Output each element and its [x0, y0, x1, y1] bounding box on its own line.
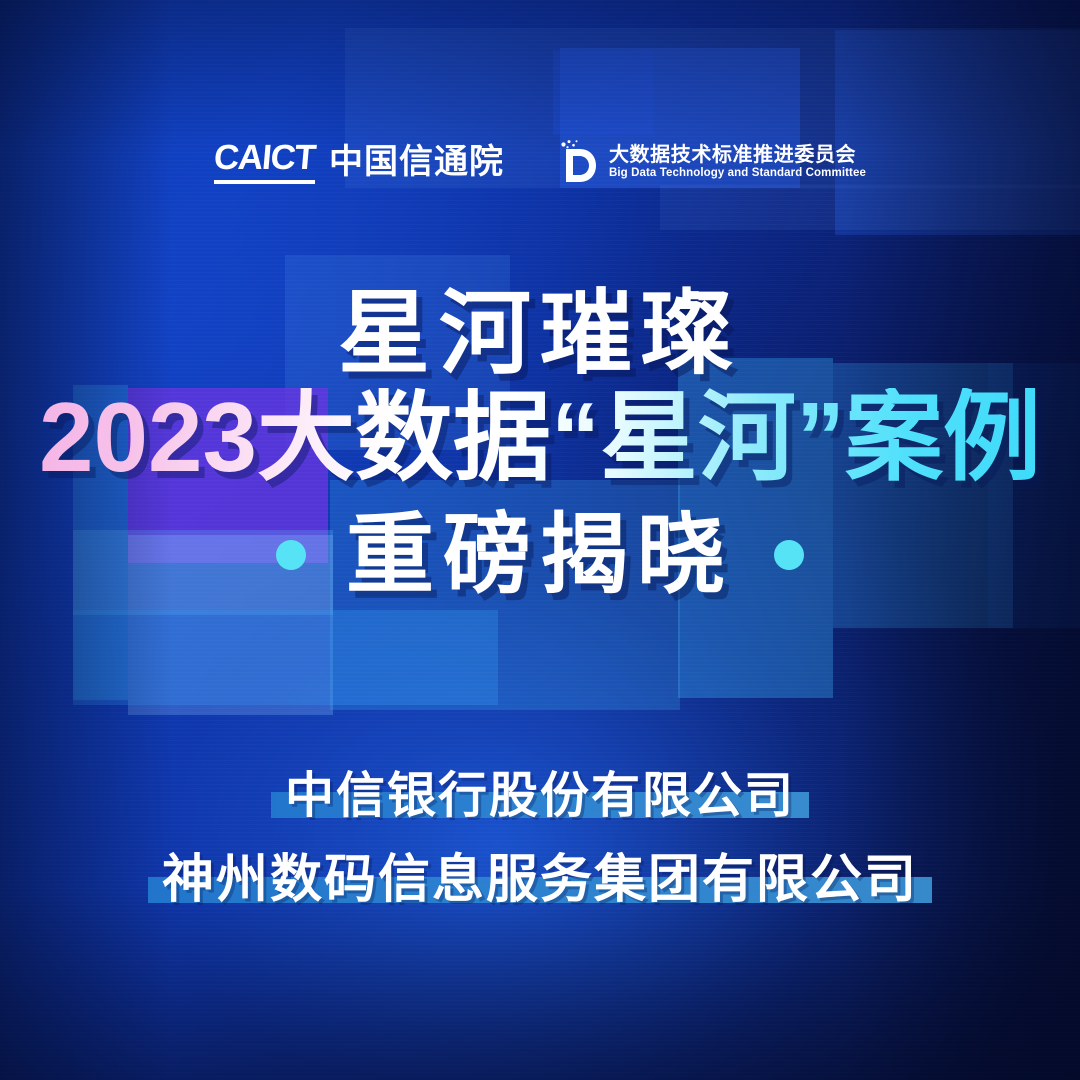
winner-item: 神州数码信息服务集团有限公司: [148, 852, 932, 909]
winner-name: 神州数码信息服务集团有限公司: [162, 851, 918, 909]
headline-group: 星河璀璨 2023大数据“星河”案例 重磅揭晓: [0, 288, 1080, 600]
headline-line-3-row: 重磅揭晓: [0, 510, 1080, 600]
caict-wordmark-text: CAICT: [212, 140, 316, 175]
bdtsc-logo: 大数据技术标准推进委员会 Big Data Technology and Sta…: [556, 138, 866, 186]
winner-name: 中信银行股份有限公司: [285, 769, 795, 823]
mid-right-band: [660, 185, 1080, 230]
caict-logo: CAICT 中国信通院: [214, 140, 504, 184]
bdtsc-text: 大数据技术标准推进委员会 Big Data Technology and Sta…: [609, 145, 866, 180]
logo-row: CAICT 中国信通院 大数据技术标准推进委员会 Big Data Techno…: [0, 138, 1080, 186]
bdtsc-english-name: Big Data Technology and Standard Committ…: [609, 168, 866, 180]
bullet-dot-left-icon: [276, 540, 306, 570]
caict-wordmark-icon: CAICT: [214, 140, 315, 184]
headline-line-3: 重磅揭晓: [346, 510, 734, 600]
headline-line-2: 2023大数据“星河”案例: [0, 388, 1080, 488]
caict-chinese-name: 中国信通院: [329, 145, 504, 179]
bdtsc-chinese-name: 大数据技术标准推进委员会: [609, 145, 866, 165]
headline-line-1: 星河璀璨: [0, 288, 1080, 382]
promo-poster: CAICT 中国信通院 大数据技术标准推进委员会 Big Data Techno…: [0, 0, 1080, 1080]
big-data-d-icon: [556, 138, 598, 186]
winner-list: 中信银行股份有限公司 神州数码信息服务集团有限公司: [0, 770, 1080, 909]
winner-item: 中信银行股份有限公司: [271, 770, 809, 824]
bullet-dot-right-icon: [774, 540, 804, 570]
top-left-small: [553, 50, 653, 135]
caict-underline-rule: [214, 180, 315, 184]
